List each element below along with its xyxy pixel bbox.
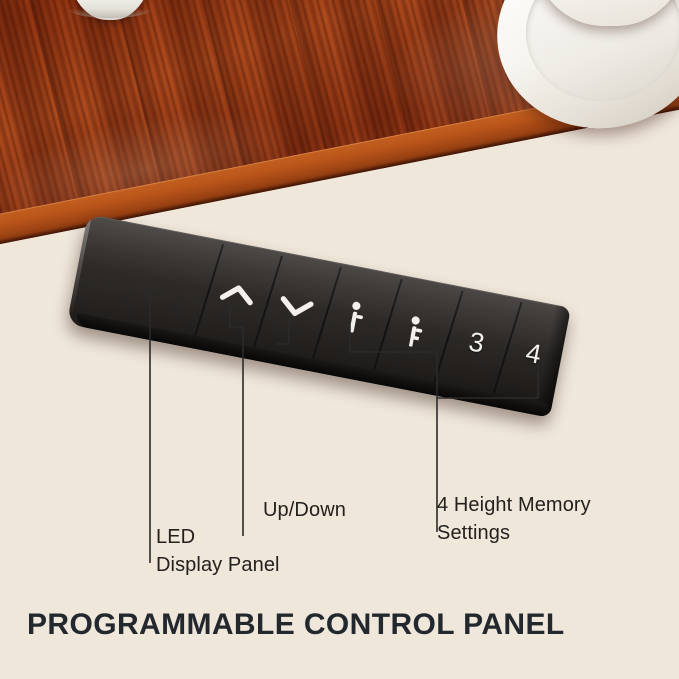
callout-led: LED Display Panel [156,524,280,579]
control-panel-body: 3 4 [67,214,571,418]
page-title: PROGRAMMABLE CONTROL PANEL [27,608,565,642]
callout-memory: 4 Height Memory Settings [437,492,591,547]
preset-3-label: 3 [467,328,487,357]
chevron-up-icon [218,286,256,314]
preset-4-label: 4 [524,339,544,368]
control-panel: 3 4 [56,214,571,475]
chevron-down-icon [276,297,314,325]
sitting-person-icon [401,316,431,354]
product-image-scene: 3 4 LED Display Panel Up/Down 4 Height M [0,0,679,679]
standing-person-icon [340,303,370,343]
callout-updown: Up/Down [263,497,346,525]
control-panel-keys: 3 4 [67,214,571,418]
